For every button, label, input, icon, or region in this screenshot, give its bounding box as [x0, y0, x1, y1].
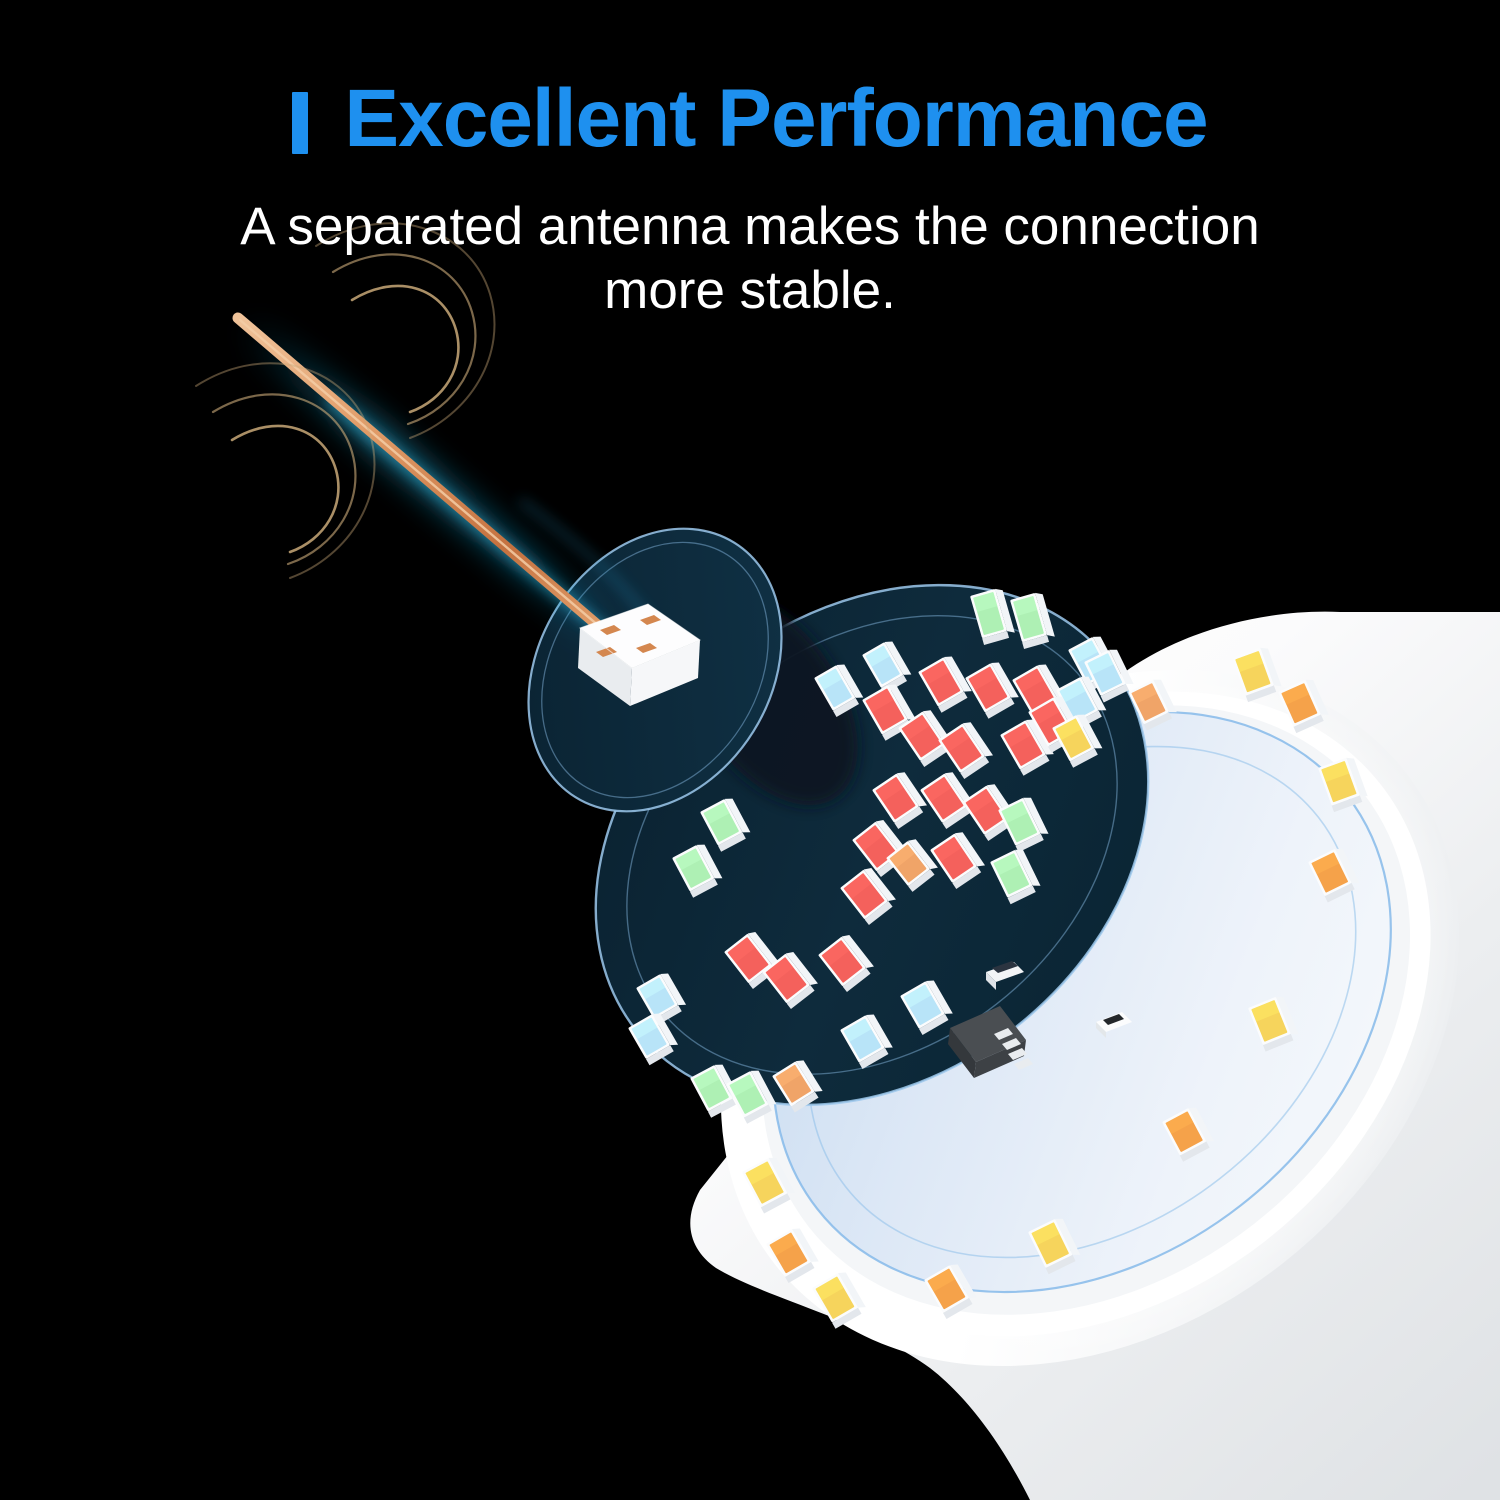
subtitle-line-1: A separated antenna makes the connection — [150, 195, 1350, 259]
accent-bar-icon — [292, 92, 308, 154]
page-headline: Excellent Performance — [0, 78, 1500, 160]
product-marketing-image: Excellent Performance A separated antenn… — [0, 0, 1500, 1500]
subtitle-line-2: more stable. — [150, 259, 1350, 323]
headline-text: Excellent Performance — [344, 73, 1207, 164]
page-subtitle: A separated antenna makes the connection… — [150, 195, 1350, 322]
